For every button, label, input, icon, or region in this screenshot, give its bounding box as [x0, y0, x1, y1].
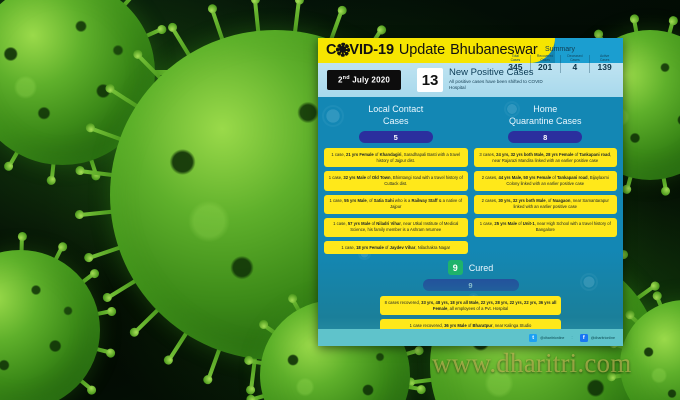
local-contact-case: 1 case, 21 yrs Female of Khandagiri, Sar… — [324, 148, 468, 167]
home-quarantine-case-list: 3 cases, 24 yrs, 32 yrs both Male, 28 yr… — [474, 148, 618, 237]
local-contact-case: 1 case, 55 yrs Male, of Satia Sahi who i… — [324, 195, 468, 214]
home-quarantine-count: 8 — [508, 131, 582, 143]
local-contact-case: 1 case, 57 yrs Male of Niladri Vihar, ne… — [324, 218, 468, 237]
summary-cell-2: DeceasedCases4 — [560, 55, 590, 73]
local-contact-count: 5 — [359, 131, 433, 143]
home-quarantine-case: 2 cases, 44 yrs Male, 50 yrs Female of T… — [474, 171, 618, 190]
site-watermark: www.dharitri.com — [432, 348, 631, 379]
home-quarantine-column: Home Quarantine Cases 8 3 cases, 24 yrs,… — [474, 103, 618, 258]
cured-case: 8 cases recovered, 33 yrs, 48 yrs, 18 yr… — [380, 296, 561, 315]
facebook-handle: @dharitrionline — [591, 336, 615, 340]
poster-body: Local Contact Cases 5 1 case, 21 yrs Fem… — [318, 97, 623, 346]
local-contact-title: Local Contact Cases — [324, 103, 468, 127]
twitter-link[interactable]: t @dharitrionline — [529, 334, 564, 342]
local-contact-case-list: 1 case, 21 yrs Female of Khandagiri, Sar… — [324, 148, 468, 254]
summary-cell-value: 345 — [501, 63, 530, 72]
covid-update-poster: C VID-19UpdateBhubaneswar 2nd July 2020 … — [318, 38, 623, 346]
summary-cell-label: RecoveredCases — [531, 55, 560, 62]
poster-footer: t @dharitrionline : f @dharitrionline — [318, 329, 623, 346]
cured-header: 9 Cured — [318, 260, 623, 275]
summary-cell-1: RecoveredCases201 — [530, 55, 560, 73]
cured-badge: 9 — [448, 260, 463, 275]
summary-title: Summary — [501, 46, 619, 53]
home-quarantine-title: Home Quarantine Cases — [474, 103, 618, 127]
home-quarantine-case: 3 cases, 24 yrs, 32 yrs both Male, 28 yr… — [474, 148, 618, 167]
summary-cell-value: 201 — [531, 63, 560, 72]
cured-label: Cured — [469, 263, 494, 273]
cured-case-list: 8 cases recovered, 33 yrs, 48 yrs, 18 yr… — [318, 296, 623, 332]
twitter-icon: t — [529, 334, 537, 342]
summary-cells: TotalCases345RecoveredCases201DeceasedCa… — [501, 55, 619, 73]
home-quarantine-case: 2 cases, 30 yrs, 32 yrs both Male, of Nu… — [474, 195, 618, 214]
facebook-link[interactable]: f @dharitrionline — [580, 334, 615, 342]
footer-divider: : — [571, 335, 572, 341]
brand-suffix: VID-19 — [349, 42, 394, 58]
summary-strip: 2nd July 2020 13 New Positive Cases All … — [318, 63, 623, 97]
summary-cell-value: 4 — [561, 63, 590, 72]
summary-cell-label: ActiveCases — [590, 55, 619, 62]
new-cases-count: 13 — [417, 68, 443, 92]
update-word: Update — [399, 42, 445, 58]
summary-cell-3: ActiveCases139 — [589, 55, 619, 73]
summary-cell-label: TotalCases — [501, 55, 530, 62]
summary-panel: Summary TotalCases345RecoveredCases201De… — [501, 46, 619, 73]
report-date: 2nd July 2020 — [327, 70, 401, 90]
local-contact-case: 1 case, 18 yrs Female of Jaydev Vihar, N… — [324, 241, 468, 254]
brand-prefix: C — [326, 42, 336, 58]
facebook-icon: f — [580, 334, 588, 342]
summary-cell-label: DeceasedCases — [561, 55, 590, 62]
new-cases-note: All positive cases have been shifted to … — [449, 79, 557, 91]
local-contact-column: Local Contact Cases 5 1 case, 21 yrs Fem… — [324, 103, 468, 258]
virus-icon — [337, 43, 349, 55]
twitter-handle: @dharitrionline — [540, 336, 564, 340]
summary-cell-value: 139 — [590, 63, 619, 72]
home-quarantine-case: 1 case, 25 yrs Male of Unit-1, near High… — [474, 218, 618, 237]
cured-count: 9 — [423, 279, 519, 291]
summary-cell-0: TotalCases345 — [501, 55, 530, 73]
local-contact-case: 1 case, 32 yrs Male of Old Town, Bhimtan… — [324, 171, 468, 190]
